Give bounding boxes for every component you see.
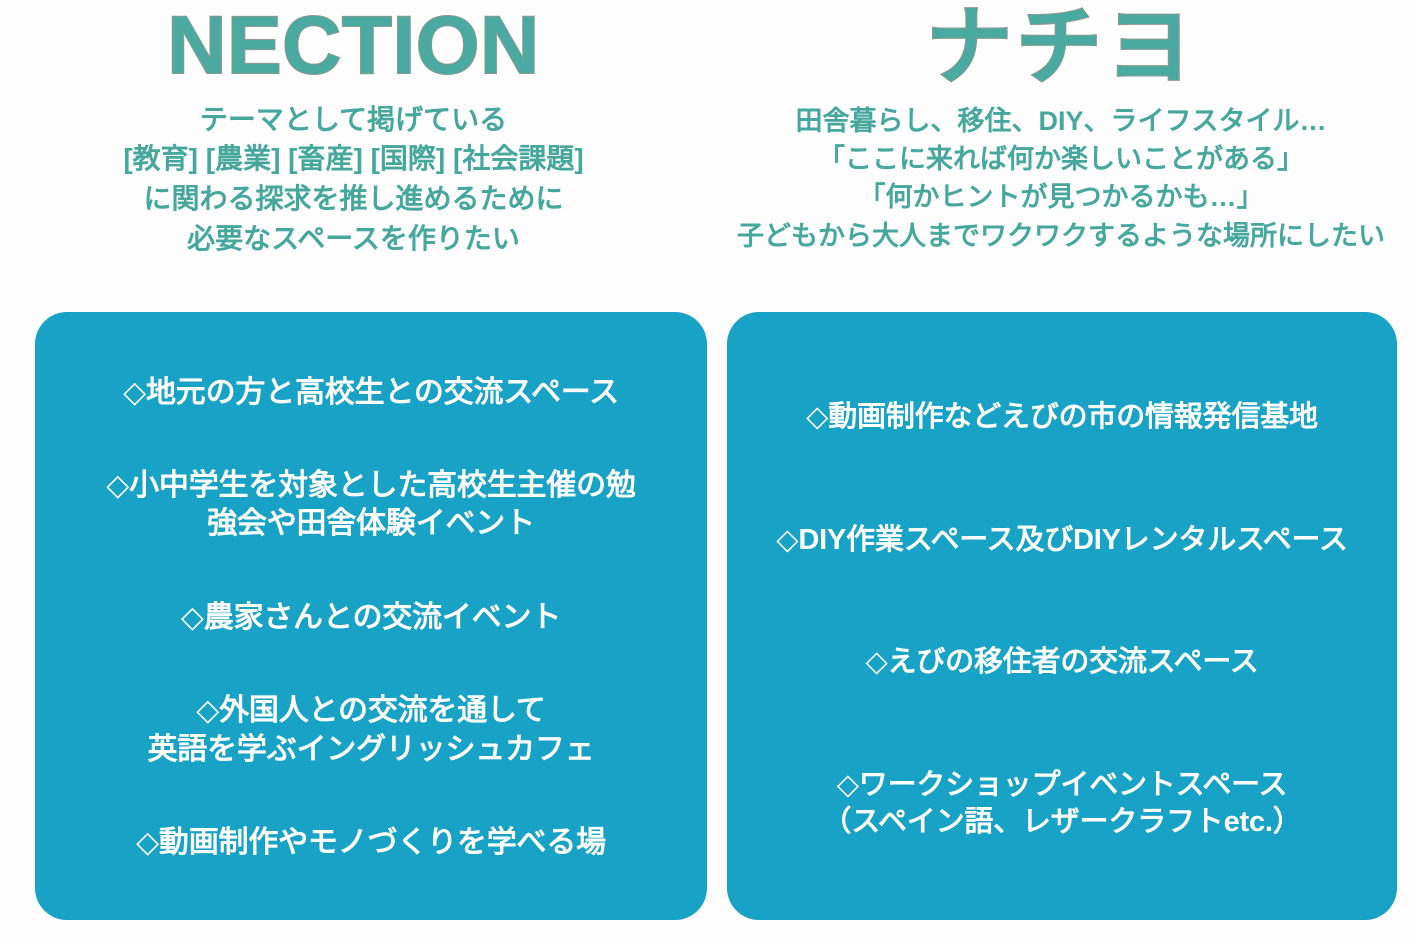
list-item: ◇DIY作業スペース及びDIYレンタルスペース <box>741 522 1383 559</box>
list-item: ◇動画制作などえびの市の情報発信基地 <box>741 399 1383 436</box>
card-nacho: ◇動画制作などえびの市の情報発信基地 ◇DIY作業スペース及びDIYレンタルスペ… <box>727 312 1397 920</box>
card-nection: ◇地元の方と高校生との交流スペース ◇小中学生を対象とした高校生主催の勉 強会や… <box>35 312 707 920</box>
tagline-line: 子どもから大人までワクワクするような場所にしたい <box>707 217 1415 255</box>
header-nection: NECTION テーマとして掲げている [教育] [農業] [畜産] [国際] … <box>0 0 707 259</box>
bullet-line: ◇えびの移住者の交流スペース <box>741 644 1383 681</box>
column-nection: NECTION テーマとして掲げている [教育] [農業] [畜産] [国際] … <box>0 0 707 943</box>
bullet-line: ◇小中学生を対象とした高校生主催の勉 <box>51 467 691 505</box>
list-item: ◇農家さんとの交流イベント <box>51 599 691 637</box>
bullet-line: ◇DIY作業スペース及びDIYレンタルスペース <box>741 522 1383 559</box>
tagline-line: 「ここに来れば何か楽しいことがある」 <box>707 140 1415 178</box>
page-title-nacho: ナチヨ <box>707 4 1415 92</box>
bullet-line: ◇動画制作やモノづくりを学べる場 <box>51 824 691 862</box>
bullet-line: （スペイン語、レザークラフトetc.） <box>741 804 1383 841</box>
bullet-line: 英語を学ぶイングリッシュカフェ <box>51 731 691 769</box>
page-title-nection: NECTION <box>0 4 707 88</box>
list-item: ◇ワークショップイベントスペース （スペイン語、レザークラフトetc.） <box>741 767 1383 841</box>
column-nacho: ナチヨ 田舎暮らし、移住、DIY、ライフスタイル… 「ここに来れば何か楽しいこと… <box>707 0 1415 943</box>
two-column-board: NECTION テーマとして掲げている [教育] [農業] [畜産] [国際] … <box>0 0 1415 943</box>
list-item: ◇動画制作やモノづくりを学べる場 <box>51 824 691 862</box>
tagline-nacho: 田舎暮らし、移住、DIY、ライフスタイル… 「ここに来れば何か楽しいことがある」… <box>707 102 1415 255</box>
bullet-line: ◇農家さんとの交流イベント <box>51 599 691 637</box>
bullet-line: ◇地元の方と高校生との交流スペース <box>51 374 691 412</box>
list-item: ◇地元の方と高校生との交流スペース <box>51 374 691 412</box>
tagline-line: [教育] [農業] [畜産] [国際] [社会課題] <box>0 139 707 179</box>
header-nacho: ナチヨ 田舎暮らし、移住、DIY、ライフスタイル… 「ここに来れば何か楽しいこと… <box>707 0 1415 255</box>
tagline-nection: テーマとして掲げている [教育] [農業] [畜産] [国際] [社会課題] に… <box>0 100 707 259</box>
bullet-line: ◇動画制作などえびの市の情報発信基地 <box>741 399 1383 436</box>
bullet-line: ◇ワークショップイベントスペース <box>741 767 1383 804</box>
tagline-line: 必要なスペースを作りたい <box>0 219 707 259</box>
bullet-line: 強会や田舎体験イベント <box>51 505 691 543</box>
tagline-line: に関わる探求を推し進めるために <box>0 179 707 219</box>
tagline-line: 「何かヒントが見つかるかも…」 <box>707 178 1415 216</box>
list-item: ◇小中学生を対象とした高校生主催の勉 強会や田舎体験イベント <box>51 467 691 544</box>
tagline-line: テーマとして掲げている <box>0 100 707 140</box>
tagline-line: 田舎暮らし、移住、DIY、ライフスタイル… <box>707 102 1415 140</box>
bullet-line: ◇外国人との交流を通して <box>51 692 691 730</box>
list-item: ◇えびの移住者の交流スペース <box>741 644 1383 681</box>
list-item: ◇外国人との交流を通して 英語を学ぶイングリッシュカフェ <box>51 692 691 769</box>
